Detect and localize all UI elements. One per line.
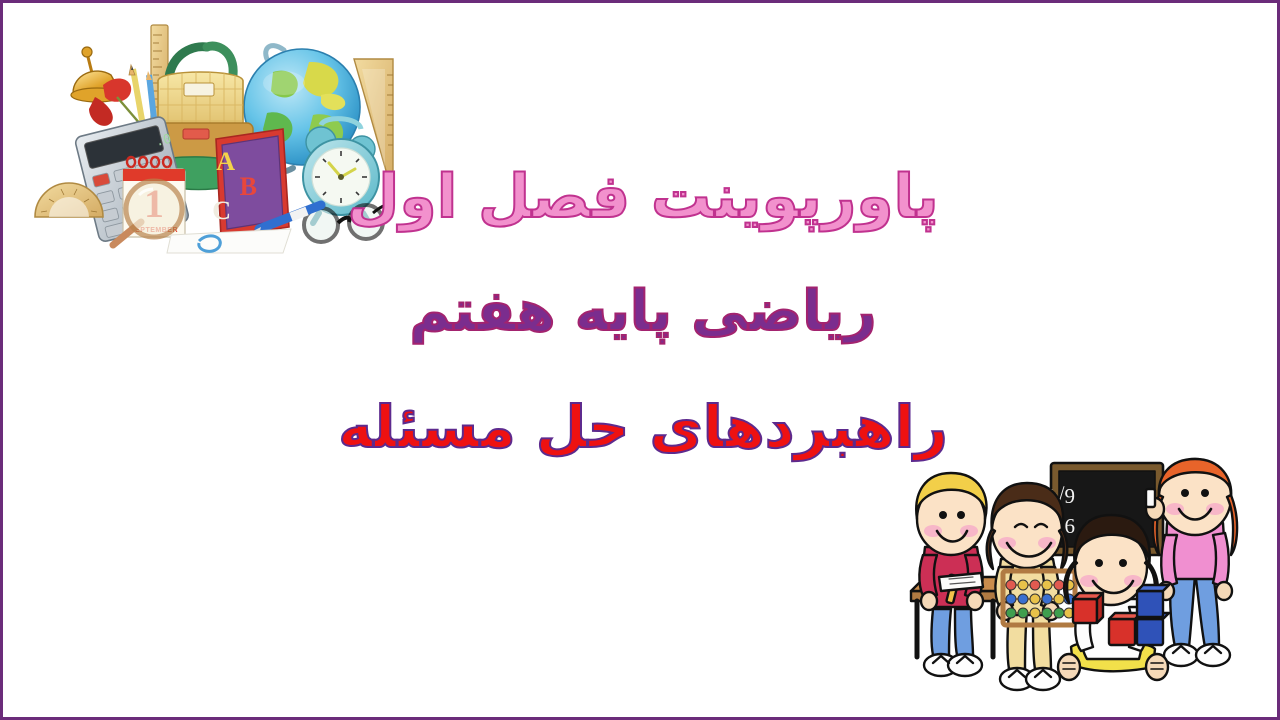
- title-line-topic: راهبردهای حل مسئله: [333, 394, 953, 461]
- title-line-chapter: پاورپوینت فصل اول: [333, 163, 953, 232]
- book-letter-b: B: [240, 172, 257, 201]
- school-bell-icon: [71, 47, 141, 126]
- title-line-subject: ریاضی پایه هفتم: [333, 280, 953, 344]
- presentation-slide: 0.: [0, 0, 1280, 720]
- book-letter-a: A: [216, 147, 235, 176]
- children-math-clipart: 9√27 6×8=: [903, 451, 1263, 711]
- title-block: پاورپوینت فصل اول ریاضی پایه هفتم راهبرد…: [333, 163, 953, 461]
- book-letter-c: C: [212, 196, 231, 225]
- block-red-held: [1073, 593, 1103, 623]
